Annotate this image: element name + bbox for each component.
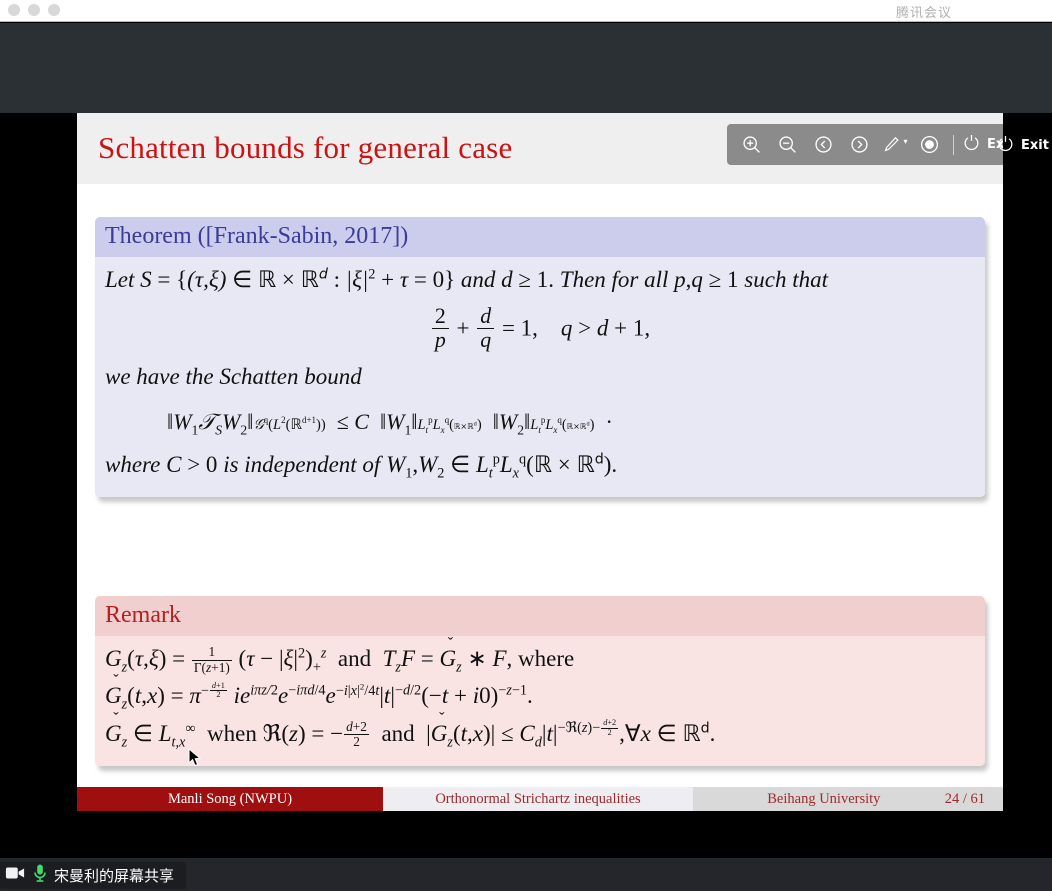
meeting-app-chrome — [0, 23, 1052, 113]
theorem-line-2: we have the Schatten bound — [105, 360, 975, 395]
record-icon[interactable] — [913, 124, 945, 165]
next-slide-icon[interactable] — [841, 124, 877, 165]
screen-share-indicator[interactable]: 宋曼利的屏幕共享 — [0, 862, 186, 889]
footer-author: Manli Song (NWPU) — [77, 787, 383, 811]
footer-right: Beihang University 24 / 61 — [693, 787, 1003, 811]
power-icon[interactable] — [962, 133, 981, 156]
window-traffic-lights[interactable] — [8, 4, 60, 16]
exit-presentation-button-overflow[interactable]: Exit Pl — [996, 134, 1052, 157]
theorem-heading: Theorem ([Frank-Sabin, 2017]) — [95, 217, 985, 257]
stage-right-mask — [1003, 113, 1052, 811]
zoom-dot[interactable] — [48, 4, 60, 16]
remark-block: Remark Gz(τ,ξ) = 1Γ(z+1) (τ − |ξ|2)+z an… — [95, 596, 985, 766]
remark-line-1: Gz(τ,ξ) = 1Γ(z+1) (τ − |ξ|2)+z and TzF =… — [105, 642, 975, 679]
theorem-display-1: 2p + dq = 1, q > d + 1, — [105, 307, 975, 354]
toolbar-divider — [953, 135, 954, 155]
camera-icon[interactable] — [4, 863, 26, 888]
remark-heading: Remark — [95, 596, 985, 636]
window-titlebar: 腾讯会议 — [0, 0, 1052, 22]
screen-share-label: 宋曼利的屏幕共享 — [54, 865, 174, 886]
footer-venue: Beihang University — [703, 791, 945, 808]
theorem-body: Let S = {(τ,ξ) ∈ ℝ × ℝd : |ξ|2 + τ = 0} … — [95, 257, 985, 497]
theorem-line-1: Let S = {(τ,ξ) ∈ ℝ × ℝd : |ξ|2 + τ = 0} … — [105, 263, 975, 298]
remark-line-2: ˇGz(t,x) = π−d+12 ieiπz/2e−iπd/4e−i|x|2/… — [105, 679, 975, 716]
window-title: 腾讯会议 — [896, 2, 952, 21]
footer-talk-title: Orthonormal Strichartz inequalities — [383, 787, 693, 811]
slide-footer: Manli Song (NWPU) Orthonormal Strichartz… — [77, 787, 1003, 811]
remark-body: Gz(τ,ξ) = 1Γ(z+1) (τ − |ξ|2)+z and TzF =… — [95, 636, 985, 766]
slide: Schatten bounds for general case Theorem… — [77, 113, 1003, 811]
presenter-toolbar[interactable]: ▾ Exit Pl — [727, 124, 1039, 165]
footer-page-number: 24 / 61 — [945, 791, 985, 808]
slide-title: Schatten bounds for general case — [98, 130, 512, 166]
power-icon-overflow[interactable] — [996, 134, 1015, 157]
zoom-in-icon[interactable] — [733, 124, 769, 165]
theorem-display-2: ‖W1𝒯SW2‖𝒢q(L2(ℝd+1)) ≤ C ‖W1‖LtpLxq(ℝ×ℝd… — [105, 409, 975, 438]
microphone-icon[interactable] — [33, 863, 47, 888]
zoom-out-icon[interactable] — [769, 124, 805, 165]
chevron-down-icon[interactable]: ▾ — [903, 137, 907, 146]
previous-slide-icon[interactable] — [805, 124, 841, 165]
exit-presentation-label-overflow: Exit Pl — [1021, 138, 1052, 153]
close-dot[interactable] — [8, 4, 20, 16]
annotate-pen-icon[interactable]: ▾ — [877, 124, 913, 165]
slide-body: Theorem ([Frank-Sabin, 2017]) Let S = {(… — [77, 184, 1003, 811]
mouse-cursor — [188, 748, 202, 768]
remark-line-3: ˇGz ∈ Lt,x∞ when ℜ(z) = −d+22 and |ˇGz(t… — [105, 717, 975, 754]
theorem-block: Theorem ([Frank-Sabin, 2017]) Let S = {(… — [95, 217, 985, 497]
screen: 腾讯会议 Schatten bounds for general case Th… — [0, 0, 1052, 891]
theorem-line-3: where C > 0 is independent of W1,W2 ∈ Lt… — [105, 448, 975, 485]
minimize-dot[interactable] — [28, 4, 40, 16]
